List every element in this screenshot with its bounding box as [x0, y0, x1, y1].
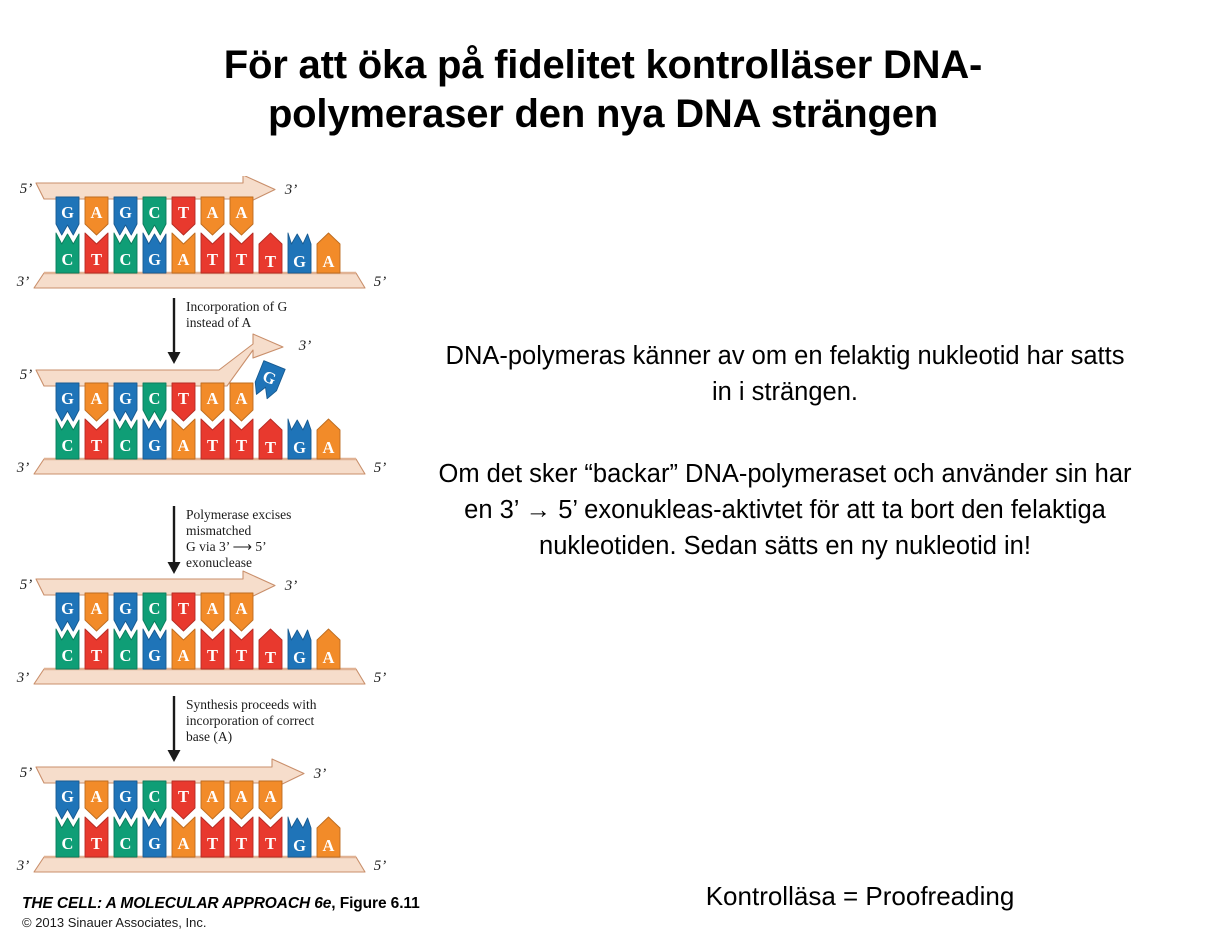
process-step-3: Synthesis proceeds withincorporation of …: [168, 696, 317, 762]
top-base-label-6-panel4: A: [207, 787, 219, 806]
top-base-label-2-panel4: A: [91, 787, 103, 806]
bottom-base-label-5-panel4: A: [178, 834, 190, 853]
top-base-label-6-panel1: A: [207, 203, 219, 222]
top-left-end-label-3: 5’: [20, 577, 33, 593]
bottom-base-label-1-panel3: C: [62, 646, 74, 665]
bottom-right-end-label-2: 5’: [374, 460, 387, 476]
bottom-base-label-7-panel2: T: [236, 436, 247, 455]
slide-canvas: För att öka på fidelitet kontrolläser DN…: [0, 0, 1206, 938]
dna-figure-svg: 5’3’3’5’CTCGATTTGAGAGCTAA5’3’3’5’CTCGATT…: [8, 176, 438, 938]
bottom-base-label-2-panel3: T: [91, 646, 102, 665]
bottom-base-label-8-panel4: T: [265, 834, 276, 853]
bottom-base-label-1-panel2: C: [62, 436, 74, 455]
bottom-base-label-2-panel2: T: [91, 436, 102, 455]
top-base-label-2-panel2: A: [91, 389, 103, 408]
bottom-left-end-label-4: 3’: [16, 858, 30, 874]
top-base-label-5-panel1: T: [178, 203, 189, 222]
bottom-base-label-3-panel4: C: [120, 834, 132, 853]
footer-note: Kontrolläsa = Proofreading: [560, 881, 1160, 912]
bottom-base-label-8-panel1: T: [265, 252, 276, 271]
process-note-line-1-2: instead of A: [186, 315, 251, 330]
process-note-line-1-1: Incorporation of G: [186, 299, 287, 314]
bottom-base-label-4-panel3: G: [148, 646, 161, 665]
process-note-line-2-4: exonuclease: [186, 555, 252, 570]
bottom-base-label-4-panel1: G: [148, 250, 161, 269]
bottom-base-label-6-panel1: T: [207, 250, 218, 269]
top-base-label-4-panel4: C: [149, 787, 161, 806]
top-left-end-label-4: 5’: [20, 765, 33, 781]
bottom-base-label-4-panel4: G: [148, 834, 161, 853]
bottom-right-end-label-4: 5’: [374, 858, 387, 874]
dna-panel-4: 5’3’3’5’CTCGATTTGAGAGCTAAA: [16, 759, 387, 874]
bottom-right-end-label-1: 5’: [374, 274, 387, 290]
bottom-base-label-4-panel2: G: [148, 436, 161, 455]
top-base-label-3-panel4: G: [119, 787, 132, 806]
top-base-label-4-panel3: C: [149, 599, 161, 618]
bottom-base-label-7-panel1: T: [236, 250, 247, 269]
process-arrow-head-1: [168, 352, 181, 364]
bottom-backbone-slab-3: [34, 669, 365, 684]
top-left-end-label-1: 5’: [20, 181, 33, 197]
bottom-base-label-1-panel1: C: [62, 250, 74, 269]
top-base-label-3-panel2: G: [119, 389, 132, 408]
process-step-2: Polymerase excisesmismatchedG via 3’ ⟶ 5…: [168, 506, 292, 574]
figure-caption-number: , Figure 6.11: [331, 895, 419, 912]
top-base-label-2-panel1: A: [91, 203, 103, 222]
top-backbone-arrow-2: [36, 334, 283, 386]
bottom-base-label-10-panel4: A: [323, 836, 335, 855]
top-base-label-3-panel1: G: [119, 203, 132, 222]
bottom-base-label-6-panel2: T: [207, 436, 218, 455]
top-base-label-1-panel2: G: [61, 389, 74, 408]
top-base-label-6-panel3: A: [207, 599, 219, 618]
bottom-left-end-label-1: 3’: [16, 274, 30, 290]
top-base-label-7-panel1: A: [236, 203, 248, 222]
top-base-label-4-panel2: C: [149, 389, 161, 408]
top-right-end-label-4: 3’: [313, 766, 327, 782]
bottom-base-label-6-panel3: T: [207, 646, 218, 665]
top-right-end-label-1: 3’: [284, 182, 298, 198]
top-base-label-7-panel3: A: [236, 599, 248, 618]
process-note-3: Synthesis proceeds withincorporation of …: [186, 697, 317, 744]
title-line-1: För att öka på fidelitet kontrolläser DN…: [0, 41, 1206, 90]
bottom-base-label-8-panel2: T: [265, 438, 276, 457]
process-note-line-2-2: mismatched: [186, 523, 251, 538]
top-base-label-1-panel4: G: [61, 787, 74, 806]
figure-caption-source: THE CELL: A MOLECULAR APPROACH 6e, Figur…: [22, 895, 492, 913]
top-base-label-1-panel3: G: [61, 599, 74, 618]
bottom-backbone-slab-4: [34, 857, 365, 872]
bottom-base-label-9-panel2: G: [293, 438, 306, 457]
bottom-base-label-9-panel3: G: [293, 648, 306, 667]
bottom-base-label-3-panel3: C: [120, 646, 132, 665]
top-base-label-7-panel2: A: [236, 389, 248, 408]
process-note-line-3-3: base (A): [186, 729, 232, 744]
bottom-base-label-6-panel4: T: [207, 834, 218, 853]
bottom-base-label-10-panel1: A: [323, 252, 335, 271]
top-base-label-5-panel3: T: [178, 599, 189, 618]
bottom-base-label-7-panel3: T: [236, 646, 247, 665]
body-paragraph-1: DNA-polymeras känner av om en felaktig n…: [440, 338, 1130, 410]
bottom-base-label-2-panel1: T: [91, 250, 102, 269]
bottom-base-label-5-panel1: A: [178, 250, 190, 269]
bottom-base-label-7-panel4: T: [236, 834, 247, 853]
figure-caption-book: THE CELL: A MOLECULAR APPROACH 6e: [22, 895, 331, 912]
top-base-label-3-panel3: G: [119, 599, 132, 618]
bottom-base-label-5-panel2: A: [178, 436, 190, 455]
bottom-base-label-10-panel3: A: [323, 648, 335, 667]
dna-proofreading-figure: 5’3’3’5’CTCGATTTGAGAGCTAA5’3’3’5’CTCGATT…: [8, 176, 438, 938]
bottom-base-label-3-panel1: C: [120, 250, 132, 269]
bottom-base-label-10-panel2: A: [323, 438, 335, 457]
bottom-base-label-9-panel4: G: [293, 836, 306, 855]
process-note-line-3-2: incorporation of correct: [186, 713, 314, 728]
dna-panel-1: 5’3’3’5’CTCGATTTGAGAGCTAA: [16, 176, 387, 290]
top-base-label-8-panel4: A: [265, 787, 277, 806]
process-note-1: Incorporation of Ginstead of A: [186, 299, 287, 330]
bottom-backbone-slab-2: [34, 459, 365, 474]
bottom-left-end-label-2: 3’: [16, 460, 30, 476]
title-line-2: polymeraser den nya DNA strängen: [0, 90, 1206, 139]
top-base-label-5-panel2: T: [178, 389, 189, 408]
process-note-line-3-1: Synthesis proceeds with: [186, 697, 317, 712]
bottom-right-end-label-3: 5’: [374, 670, 387, 686]
page-title: För att öka på fidelitet kontrolläser DN…: [0, 41, 1206, 139]
top-base-label-4-panel1: C: [149, 203, 161, 222]
top-base-label-5-panel4: T: [178, 787, 189, 806]
bottom-left-end-label-3: 3’: [16, 670, 30, 686]
top-right-end-label-2: 3’: [298, 338, 312, 354]
top-left-end-label-2: 5’: [20, 367, 33, 383]
top-base-label-1-panel1: G: [61, 203, 74, 222]
top-base-label-2-panel3: A: [91, 599, 103, 618]
process-step-1: Incorporation of Ginstead of A: [168, 298, 288, 364]
body-paragraph-2: Om det sker “backar” DNA-polymeraset och…: [432, 456, 1138, 565]
dna-panel-2: 5’3’3’5’CTCGATTTGAGAGCTAAG: [16, 334, 387, 476]
bottom-backbone-slab-1: [34, 273, 365, 288]
bottom-base-label-5-panel3: A: [178, 646, 190, 665]
figure-caption: THE CELL: A MOLECULAR APPROACH 6e, Figur…: [22, 895, 492, 930]
dna-panel-3: 5’3’3’5’CTCGATTTGAGAGCTAA: [16, 571, 387, 686]
process-note-line-2-3: G via 3’ ⟶ 5’: [186, 539, 267, 554]
bottom-base-label-8-panel3: T: [265, 648, 276, 667]
top-base-label-6-panel2: A: [207, 389, 219, 408]
process-arrow-head-3: [168, 750, 181, 762]
mismatched-base-group-panel2: G: [251, 361, 285, 401]
process-arrow-head-2: [168, 562, 181, 574]
process-note-line-2-1: Polymerase excises: [186, 507, 291, 522]
bottom-base-label-9-panel1: G: [293, 252, 306, 271]
bottom-base-label-3-panel2: C: [120, 436, 132, 455]
process-note-2: Polymerase excisesmismatchedG via 3’ ⟶ 5…: [186, 507, 291, 570]
top-base-label-7-panel4: A: [236, 787, 248, 806]
bottom-base-label-1-panel4: C: [62, 834, 74, 853]
bottom-base-label-2-panel4: T: [91, 834, 102, 853]
top-right-end-label-3: 3’: [284, 578, 298, 594]
figure-caption-copyright: © 2013 Sinauer Associates, Inc.: [22, 915, 492, 930]
